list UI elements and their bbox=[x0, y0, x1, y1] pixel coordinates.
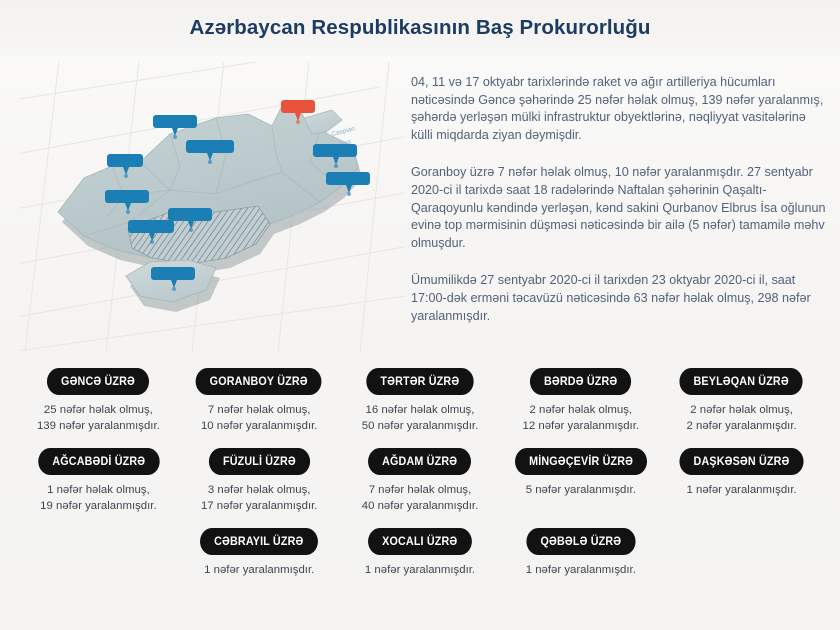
card-stats: 16 nəfər həlak olmuş, 50 nəfər yaralanmı… bbox=[362, 403, 479, 434]
card-line-2: 2 nəfər yaralanmışdır. bbox=[687, 419, 797, 434]
card-line-1: 1 nəfər yaralanmışdır. bbox=[204, 563, 314, 578]
card-line-1: 1 nəfər yaralanmışdır. bbox=[687, 483, 797, 498]
card-agcabedi[interactable]: AĞCABƏDİ ÜZRƏ 1 nəfər həlak olmuş, 19 nə… bbox=[18, 448, 179, 514]
card-stats: 1 nəfər həlak olmuş, 19 nəfər yaralanmış… bbox=[40, 483, 157, 514]
card-stats: 1 nəfər yaralanmışdır. bbox=[687, 483, 797, 498]
card-stats: 25 nəfər həlak olmuş, 139 nəfər yaralanm… bbox=[37, 403, 160, 434]
card-row-3: CƏBRAYIL ÜZRƏ 1 nəfər yaralanmışdır. XOC… bbox=[0, 528, 840, 579]
map-landmass bbox=[58, 102, 358, 302]
card-qebele[interactable]: QƏBƏLƏ ÜZRƏ 1 nəfər yaralanmışdır. bbox=[500, 528, 661, 579]
card-line-2: 17 nəfər yaralanmışdır. bbox=[201, 499, 318, 514]
card-label: TƏRTƏR ÜZRƏ bbox=[366, 368, 473, 395]
azerbaijan-isometric-map-svg: Caspian Sea bbox=[20, 62, 405, 357]
card-line-1: 7 nəfər həlak olmuş, bbox=[362, 483, 479, 498]
header-bar: Azərbaycan Respublikasının Baş Prokurorl… bbox=[0, 0, 840, 56]
card-label: DAŞKƏSƏN ÜZRƏ bbox=[680, 448, 804, 475]
card-line-1: 16 nəfər həlak olmuş, bbox=[362, 403, 479, 418]
card-berde[interactable]: BƏRDƏ ÜZRƏ 2 nəfər həlak olmuş, 12 nəfər… bbox=[500, 368, 661, 434]
card-line-2: 139 nəfər yaralanmışdır. bbox=[37, 419, 160, 434]
card-terter[interactable]: TƏRTƏR ÜZRƏ 16 nəfər həlak olmuş, 50 nəf… bbox=[340, 368, 501, 434]
card-line-1: 1 nəfər yaralanmışdır. bbox=[365, 563, 475, 578]
card-fuzuli[interactable]: FÜZULİ ÜZRƏ 3 nəfər həlak olmuş, 17 nəfə… bbox=[179, 448, 340, 514]
card-ganja[interactable]: GƏNCƏ ÜZRƏ 25 nəfər həlak olmuş, 139 nəf… bbox=[18, 368, 179, 434]
card-line-1: 25 nəfər həlak olmuş, bbox=[37, 403, 160, 418]
card-line-1: 1 nəfər həlak olmuş, bbox=[40, 483, 157, 498]
card-line-2: 12 nəfər yaralanmışdır. bbox=[523, 419, 640, 434]
paragraph-total: Ümumilikdə 27 sentyabr 2020-ci il tarixd… bbox=[411, 272, 826, 325]
card-aghdam[interactable]: AĞDAM ÜZRƏ 7 nəfər həlak olmuş, 40 nəfər… bbox=[340, 448, 501, 514]
map-sea-label: Caspian bbox=[331, 125, 356, 138]
card-label: FÜZULİ ÜZRƏ bbox=[209, 448, 310, 475]
infographic-poster: Azərbaycan Respublikasının Baş Prokurorl… bbox=[0, 0, 840, 630]
card-jabrayil[interactable]: CƏBRAYIL ÜZRƏ 1 nəfər yaralanmışdır. bbox=[179, 528, 340, 579]
card-line-1: 2 nəfər həlak olmuş, bbox=[687, 403, 797, 418]
map-illustration: Caspian Sea bbox=[20, 62, 405, 357]
card-mingechevir[interactable]: MİNGƏÇEVİR ÜZRƏ 5 nəfər yaralanmışdır. bbox=[500, 448, 661, 514]
card-line-1: 3 nəfər həlak olmuş, bbox=[201, 483, 318, 498]
summary-text-column: 04, 11 və 17 oktyabr tarixlərində raket … bbox=[411, 74, 826, 325]
card-label: BƏRDƏ ÜZRƏ bbox=[530, 368, 632, 395]
card-xocali[interactable]: XOCALI ÜZRƏ 1 nəfər yaralanmışdır. bbox=[340, 528, 501, 579]
paragraph-goranboy: Goranboy üzrə 7 nəfər həlak olmuş, 10 nə… bbox=[411, 164, 826, 252]
paragraph-ganja: 04, 11 və 17 oktyabr tarixlərində raket … bbox=[411, 74, 826, 144]
card-stats: 7 nəfər həlak olmuş, 40 nəfər yaralanmış… bbox=[362, 483, 479, 514]
card-line-2: 40 nəfər yaralanmışdır. bbox=[362, 499, 479, 514]
card-beylegan[interactable]: BEYLƏQAN ÜZRƏ 2 nəfər həlak olmuş, 2 nəf… bbox=[661, 368, 822, 434]
page-title: Azərbaycan Respublikasının Baş Prokurorl… bbox=[189, 16, 650, 40]
card-dashkesen[interactable]: DAŞKƏSƏN ÜZRƏ 1 nəfər yaralanmışdır. bbox=[661, 448, 822, 514]
card-stats: 2 nəfər həlak olmuş, 2 nəfər yaralanmışd… bbox=[687, 403, 797, 434]
card-label: XOCALI ÜZRƏ bbox=[368, 528, 471, 555]
card-stats: 5 nəfər yaralanmışdır. bbox=[526, 483, 636, 498]
card-label: GƏNCƏ ÜZRƏ bbox=[47, 368, 149, 395]
district-casualty-cards: GƏNCƏ ÜZRƏ 25 nəfər həlak olmuş, 139 nəf… bbox=[0, 368, 840, 630]
card-row-1: GƏNCƏ ÜZRƏ 25 nəfər həlak olmuş, 139 nəf… bbox=[0, 368, 840, 434]
card-label: QƏBƏLƏ ÜZRƏ bbox=[526, 528, 635, 555]
card-goranboy[interactable]: GORANBOY ÜZRƏ 7 nəfər həlak olmuş, 10 nə… bbox=[179, 368, 340, 434]
card-label: AĞDAM ÜZRƏ bbox=[368, 448, 471, 475]
card-label: MİNGƏÇEVİR ÜZRƏ bbox=[515, 448, 647, 475]
card-line-2: 50 nəfər yaralanmışdır. bbox=[362, 419, 479, 434]
card-stats: 3 nəfər həlak olmuş, 17 nəfər yaralanmış… bbox=[201, 483, 318, 514]
card-stats: 1 nəfər yaralanmışdır. bbox=[365, 563, 475, 578]
card-line-1: 5 nəfər yaralanmışdır. bbox=[526, 483, 636, 498]
card-line-1: 2 nəfər həlak olmuş, bbox=[523, 403, 640, 418]
card-line-2: 10 nəfər yaralanmışdır. bbox=[201, 419, 318, 434]
card-line-1: 1 nəfər yaralanmışdır. bbox=[526, 563, 636, 578]
card-row-2: AĞCABƏDİ ÜZRƏ 1 nəfər həlak olmuş, 19 nə… bbox=[0, 448, 840, 514]
card-line-1: 7 nəfər həlak olmuş, bbox=[201, 403, 318, 418]
card-stats: 1 nəfər yaralanmışdır. bbox=[204, 563, 314, 578]
card-line-2: 19 nəfər yaralanmışdır. bbox=[40, 499, 157, 514]
card-label: GORANBOY ÜZRƏ bbox=[196, 368, 322, 395]
card-label: AĞCABƏDİ ÜZRƏ bbox=[38, 448, 159, 475]
card-stats: 7 nəfər həlak olmuş, 10 nəfər yaralanmış… bbox=[201, 403, 318, 434]
card-label: BEYLƏQAN ÜZRƏ bbox=[680, 368, 803, 395]
card-stats: 1 nəfər yaralanmışdır. bbox=[526, 563, 636, 578]
card-stats: 2 nəfər həlak olmuş, 12 nəfər yaralanmış… bbox=[523, 403, 640, 434]
card-label: CƏBRAYIL ÜZRƏ bbox=[200, 528, 318, 555]
